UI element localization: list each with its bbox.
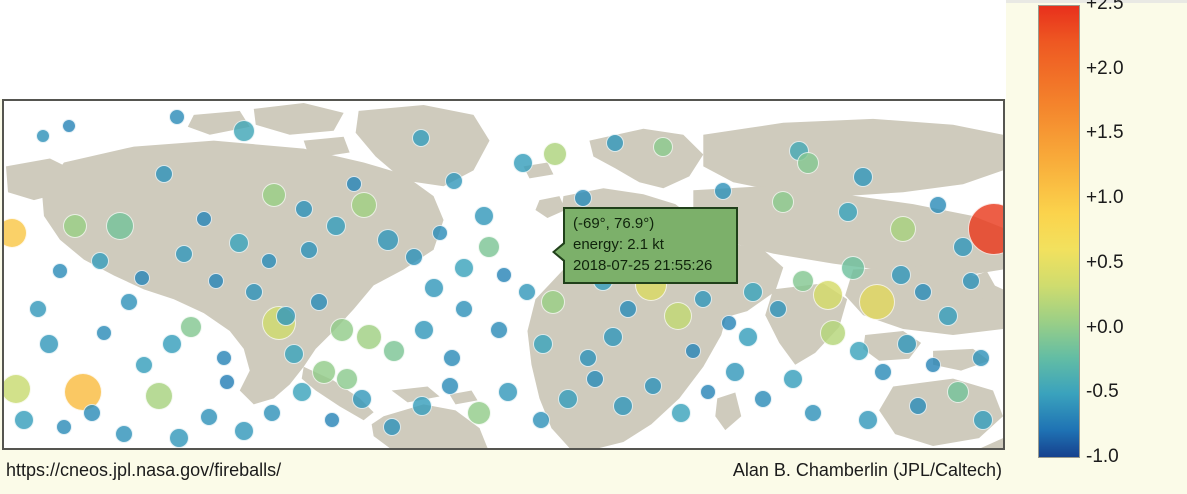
fireball-marker[interactable] bbox=[276, 306, 296, 326]
fireball-marker[interactable] bbox=[891, 265, 911, 285]
fireball-marker[interactable] bbox=[2, 374, 31, 404]
fireball-marker[interactable] bbox=[62, 119, 76, 133]
tooltip-pointer-icon bbox=[555, 243, 566, 261]
fireball-marker[interactable] bbox=[841, 256, 865, 280]
fireball-marker[interactable] bbox=[234, 421, 254, 441]
fireball-marker[interactable] bbox=[443, 349, 461, 367]
fireball-marker[interactable] bbox=[52, 263, 68, 279]
fireball-marker[interactable] bbox=[351, 192, 377, 218]
fireball-marker[interactable] bbox=[783, 369, 803, 389]
fireball-tooltip[interactable]: (-69°, 76.9°) energy: 2.1 kt 2018-07-25 … bbox=[563, 207, 738, 284]
fireball-marker[interactable] bbox=[263, 404, 281, 422]
fireball-marker[interactable] bbox=[586, 370, 604, 388]
fireball-marker[interactable] bbox=[383, 418, 401, 436]
colorbar-tick-2: +1.5 bbox=[1086, 122, 1124, 144]
fireball-marker[interactable] bbox=[953, 237, 973, 257]
tooltip-datetime: 2018-07-25 21:55:26 bbox=[573, 255, 728, 276]
fireball-marker[interactable] bbox=[352, 389, 372, 409]
fireball-marker[interactable] bbox=[196, 211, 212, 227]
map-inner: (-69°, 76.9°) energy: 2.1 kt 2018-07-25 … bbox=[4, 101, 1003, 448]
fireball-marker[interactable] bbox=[897, 334, 917, 354]
fireball-marker[interactable] bbox=[412, 129, 430, 147]
fireball-marker[interactable] bbox=[405, 248, 423, 266]
fireball-marker[interactable] bbox=[972, 349, 990, 367]
fireball-marker[interactable] bbox=[134, 270, 150, 286]
fireball-marker[interactable] bbox=[336, 368, 358, 390]
source-url[interactable]: https://cneos.jpl.nasa.gov/fireballs/ bbox=[6, 460, 281, 481]
fireball-marker[interactable] bbox=[606, 134, 624, 152]
fireball-marker[interactable] bbox=[432, 225, 448, 241]
colorbar-tick-5: +0.0 bbox=[1086, 317, 1124, 339]
fireball-marker[interactable] bbox=[478, 236, 500, 258]
fireball-marker[interactable] bbox=[467, 401, 491, 425]
top-white-band bbox=[0, 0, 1006, 99]
colorbar[interactable] bbox=[1038, 5, 1080, 458]
fireball-marker[interactable] bbox=[180, 316, 202, 338]
fireball-marker[interactable] bbox=[356, 324, 382, 350]
colorbar-tick-7: -1.0 bbox=[1086, 446, 1119, 468]
fireball-marker[interactable] bbox=[644, 377, 662, 395]
fireball-marker[interactable] bbox=[175, 245, 193, 263]
fireball-marker[interactable] bbox=[169, 428, 189, 448]
fireball-marker[interactable] bbox=[284, 344, 304, 364]
fireball-marker[interactable] bbox=[155, 165, 173, 183]
fireball-marker[interactable] bbox=[743, 282, 763, 302]
fireball-marker[interactable] bbox=[694, 290, 712, 308]
fireball-marker[interactable] bbox=[233, 120, 255, 142]
fireball-marker[interactable] bbox=[63, 214, 87, 238]
fireball-marker[interactable] bbox=[216, 350, 232, 366]
fireball-marker[interactable] bbox=[91, 252, 109, 270]
fireball-marker[interactable] bbox=[39, 334, 59, 354]
fireball-marker[interactable] bbox=[914, 283, 932, 301]
colorbar-tick-0: +2.5 bbox=[1086, 0, 1124, 15]
fireball-marker[interactable] bbox=[414, 320, 434, 340]
fireball-marker[interactable] bbox=[490, 321, 508, 339]
fireball-marker[interactable] bbox=[445, 172, 463, 190]
fireball-marker[interactable] bbox=[200, 408, 218, 426]
credit-text: Alan B. Chamberlin (JPL/Caltech) bbox=[733, 460, 1002, 481]
fireball-marker[interactable] bbox=[106, 212, 134, 240]
fireball-marker[interactable] bbox=[262, 183, 286, 207]
fireball-marker[interactable] bbox=[326, 216, 346, 236]
fireball-marker[interactable] bbox=[474, 206, 494, 226]
fireball-marker[interactable] bbox=[261, 253, 277, 269]
fireball-marker[interactable] bbox=[874, 363, 892, 381]
fireball-marker[interactable] bbox=[377, 229, 399, 251]
fireball-marker[interactable] bbox=[849, 341, 869, 361]
world-map[interactable]: (-69°, 76.9°) energy: 2.1 kt 2018-07-25 … bbox=[2, 99, 1005, 450]
fireball-map-page: (-69°, 76.9°) energy: 2.1 kt 2018-07-25 … bbox=[0, 0, 1187, 494]
colorbar-tick-4: +0.5 bbox=[1086, 252, 1124, 274]
colorbar-gradient bbox=[1038, 5, 1080, 458]
fireball-marker[interactable] bbox=[925, 357, 941, 373]
fireball-marker[interactable] bbox=[424, 278, 444, 298]
colorbar-tick-3: +1.0 bbox=[1086, 187, 1124, 209]
fireball-marker[interactable] bbox=[310, 293, 328, 311]
colorbar-tick-labels: +2.5+2.0+1.5+1.0+0.5+0.0-0.5-1.0 bbox=[1086, 0, 1186, 470]
tooltip-energy: energy: 2.1 kt bbox=[573, 234, 728, 255]
fireball-marker[interactable] bbox=[496, 267, 512, 283]
fireball-marker[interactable] bbox=[300, 241, 318, 259]
fireball-marker[interactable] bbox=[36, 129, 50, 143]
fireball-marker[interactable] bbox=[135, 356, 153, 374]
colorbar-tick-1: +2.0 bbox=[1086, 58, 1124, 80]
colorbar-tick-6: -0.5 bbox=[1086, 381, 1119, 403]
fireball-marker[interactable] bbox=[312, 360, 336, 384]
fireball-marker[interactable] bbox=[219, 374, 235, 390]
fireball-marker[interactable] bbox=[412, 396, 432, 416]
tooltip-coords: (-69°, 76.9°) bbox=[573, 213, 728, 234]
fireball-marker[interactable] bbox=[56, 419, 72, 435]
fireball-marker[interactable] bbox=[346, 176, 362, 192]
fireball-marker[interactable] bbox=[162, 334, 182, 354]
fireball-marker[interactable] bbox=[229, 233, 249, 253]
footer: https://cneos.jpl.nasa.gov/fireballs/ Al… bbox=[0, 452, 1006, 494]
fireball-marker[interactable] bbox=[115, 425, 133, 443]
fireball-marker[interactable] bbox=[295, 200, 313, 218]
fireball-marker[interactable] bbox=[169, 109, 185, 125]
fireball-marker[interactable] bbox=[120, 293, 138, 311]
fireball-marker[interactable] bbox=[455, 300, 473, 318]
fireball-marker[interactable] bbox=[330, 318, 354, 342]
fireball-marker[interactable] bbox=[454, 258, 474, 278]
fireball-marker[interactable] bbox=[145, 382, 173, 410]
fireball-marker[interactable] bbox=[383, 340, 405, 362]
fireball-marker[interactable] bbox=[441, 377, 459, 395]
fireball-marker[interactable] bbox=[245, 283, 263, 301]
fireball-marker[interactable] bbox=[772, 191, 794, 213]
fireball-marker[interactable] bbox=[725, 362, 745, 382]
fireball-marker[interactable] bbox=[324, 412, 340, 428]
